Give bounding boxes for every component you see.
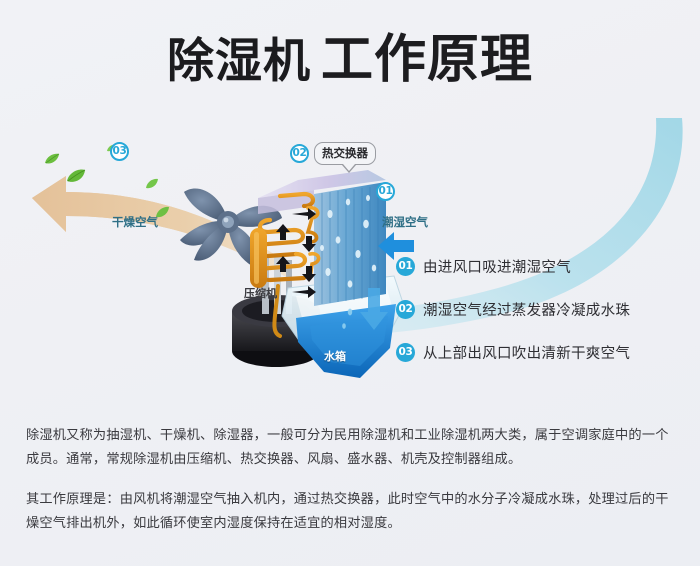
infographic-page: 除湿机工作原理 (0, 0, 700, 566)
paragraph-principle: 其工作原理是：由风机将潮湿空气抽入机内，通过热交换器，此时空气中的水分子冷凝成水… (26, 488, 676, 536)
leaf-icon (145, 178, 159, 190)
diagram-badge-heat-exchanger: 02 (290, 144, 309, 163)
diagram-label-humid-air: 潮湿空气 (382, 214, 428, 230)
leaf-icon (44, 152, 60, 166)
diagram-label-dry-air: 干燥空气 (112, 214, 158, 230)
legend-item: 03 从上部出风口吹出清新干爽空气 (396, 341, 692, 363)
legend-item: 02 潮湿空气经过蒸发器冷凝成水珠 (396, 298, 692, 320)
legend-item: 01 由进风口吸进潮湿空气 (396, 255, 692, 277)
legend-badge-02: 02 (396, 300, 415, 319)
legend-badge-01: 01 (396, 257, 415, 276)
page-title-part1: 除湿机 (167, 34, 311, 89)
legend-text-01: 由进风口吸进潮湿空气 (423, 256, 571, 277)
legend-text-03: 从上部出风口吹出清新干爽空气 (423, 342, 630, 363)
dehumidifier-unit (218, 136, 418, 396)
diagram-label-water-tank: 水箱 (324, 348, 346, 364)
leaf-icon (66, 168, 86, 184)
description-paragraphs: 除湿机又称为抽湿机、干燥机、除湿器，一般可分为民用除湿机和工业除湿机两大类，属于… (26, 424, 676, 536)
legend-badge-03: 03 (396, 343, 415, 362)
diagram-badge-dry-air: 03 (110, 142, 129, 161)
paragraph-definition: 除湿机又称为抽湿机、干燥机、除湿器，一般可分为民用除湿机和工业除湿机两大类，属于… (26, 424, 676, 472)
page-title-part2: 工作原理 (321, 30, 533, 90)
legend-text-02: 潮湿空气经过蒸发器冷凝成水珠 (423, 299, 630, 320)
diagram-callout-heat-exchanger: 热交换器 (314, 142, 376, 165)
page-title: 除湿机工作原理 (0, 34, 700, 86)
diagram-label-compressor: 压缩机 (244, 285, 277, 301)
process-legend: 01 由进风口吸进潮湿空气 02 潮湿空气经过蒸发器冷凝成水珠 03 从上部出风… (396, 255, 692, 384)
diagram-badge-humid-air: 01 (376, 182, 395, 201)
